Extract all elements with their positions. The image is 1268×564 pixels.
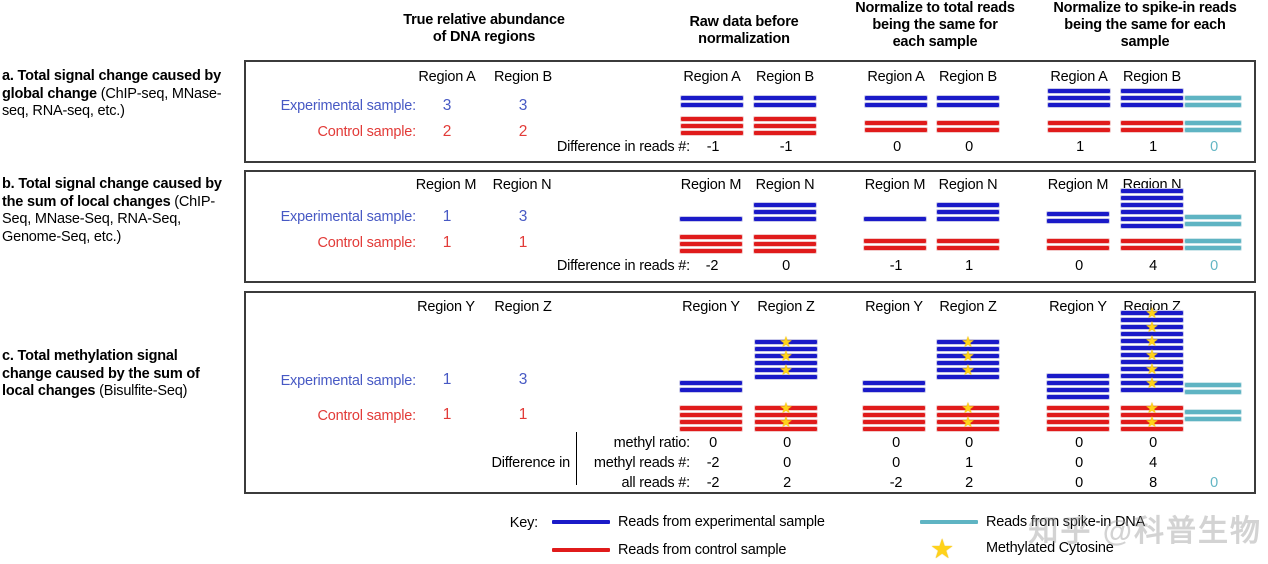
panel-b-region-label-0-col0: Region M <box>416 177 476 193</box>
panel-c-spikein-ctrl-stack-1: ★ ★ <box>1121 406 1183 434</box>
watermark: 知乎 @科普生物 <box>1028 506 1262 550</box>
panel-b-raw-ctrl-stack-1 <box>754 235 816 253</box>
column-header-raw-data: Raw data before normalization <box>648 14 840 48</box>
panel-b-spikein-dna-top <box>1185 215 1241 226</box>
panel-c-true-ctrl-0: 1 <box>443 407 451 423</box>
panel-c-normtotal-methyl-reads-1: 1 <box>965 455 973 471</box>
panel-b-control-label: Control sample: <box>317 235 416 251</box>
panel-c-description-normal: (Bisulfite-Seq) <box>95 383 187 399</box>
panel-a-experimental-label: Experimental sample: <box>281 98 416 114</box>
panel-b-description: b. Total signal change caused by the sum… <box>2 176 230 246</box>
panel-a-region-label-1-col0: Region B <box>494 69 552 85</box>
panel-b-normtotal-ctrl-stack-0 <box>864 239 926 250</box>
panel-b-normtotal-diff-1: 1 <box>965 258 973 274</box>
panel-c-methyl-ratio-label: methyl ratio: <box>614 435 690 451</box>
panel-a-region-label-1-col1: Region B <box>756 69 814 85</box>
panel-c-spikein-dna-top <box>1185 383 1241 394</box>
key-label-control: Reads from control sample <box>618 542 786 558</box>
panel-a-true-exp-0: 3 <box>443 98 451 114</box>
panel-a-raw-diff-0: -1 <box>707 139 720 155</box>
panel-a-raw-ctrl-stack-0 <box>681 117 743 135</box>
panel-c-spikein-all-reads-0: 0 <box>1075 475 1083 491</box>
panel-c-normtotal-ctrl-stack-1: ★ ★ <box>937 406 999 434</box>
panel-c-all-reads-label: all reads #: <box>621 475 690 491</box>
panel-c-raw-ctrl-stack-1: ★ ★ <box>755 406 817 434</box>
panel-c-control-label: Control sample: <box>317 408 416 424</box>
panel-a-raw-ctrl-stack-1 <box>754 117 816 135</box>
figure-normalization-strategies: True relative abundance of DNA regions R… <box>0 0 1268 560</box>
panel-a-spikein-exp-stack-0 <box>1048 89 1110 107</box>
panel-b-normtotal-ctrl-stack-1 <box>937 239 999 250</box>
column-header-true-abundance: True relative abundance of DNA regions <box>358 12 610 46</box>
panel-c-spikein-methyl-reads-0: 0 <box>1075 455 1083 471</box>
panel-b-spikein-diff-0: 0 <box>1075 258 1083 274</box>
panel-a-spikein-dna-bottom <box>1185 121 1241 132</box>
panel-a-normtotal-ctrl-stack-1 <box>937 121 999 132</box>
panel-c-normtotal-ctrl-stack-0 <box>863 406 925 431</box>
panel-b-raw-diff-1: 0 <box>782 258 790 274</box>
panel-c-region-label-1-col0: Region Z <box>494 299 551 315</box>
panel-b-raw-diff-0: -2 <box>706 258 719 274</box>
panel-c-methyl-reads-label: methyl reads #: <box>594 455 690 471</box>
panel-b-true-ctrl-0: 1 <box>443 235 451 251</box>
panel-c-spikein-ctrl-stack-0 <box>1047 406 1109 431</box>
panel-c-normtotal-exp-stack-1: ★ ★ ★ <box>937 340 999 382</box>
panel-b-spikein-diff-1: 4 <box>1149 258 1157 274</box>
panel-c-spikein-exp-stack-1: ★ ★ ★ ★ ★ ★ <box>1121 311 1183 395</box>
panel-b-spikein-ctrl-stack-0 <box>1047 239 1109 250</box>
panel-b-raw-exp-stack-1 <box>754 203 816 221</box>
panel-c-region-label-0-col2: Region Y <box>865 299 923 315</box>
panel-a-region-label-0-col1: Region A <box>683 69 740 85</box>
panel-a-control-label: Control sample: <box>317 124 416 140</box>
panel-c-raw-all-reads-0: -2 <box>707 475 720 491</box>
panel-a-true-ctrl-1: 2 <box>519 124 527 140</box>
panel-c-raw-exp-stack-1: ★ ★ ★ <box>755 340 817 382</box>
panel-c-raw-methyl-ratio-0: 0 <box>709 435 717 451</box>
panel-b-region-label-0-col2: Region M <box>865 177 925 193</box>
column-header-normalize-total: Normalize to total reads being the same … <box>838 0 1032 51</box>
panel-a-difference-label: Difference in reads #: <box>557 139 690 155</box>
panel-c-spikein-methyl-ratio-0: 0 <box>1075 435 1083 451</box>
panel-a-spikein-exp-stack-1 <box>1121 89 1183 107</box>
panel-b-experimental-label: Experimental sample: <box>281 209 416 225</box>
panel-c-normtotal-methyl-reads-0: 0 <box>892 455 900 471</box>
key-swatch-spikein <box>920 520 978 524</box>
panel-a-region-label-0-col0: Region A <box>418 69 475 85</box>
panel-b-spikein-exp-stack-1 <box>1121 189 1183 228</box>
panel-b-spikein-dna-bottom <box>1185 239 1241 250</box>
panel-c-spikein-all-reads-1: 8 <box>1149 475 1157 491</box>
panel-c-region-label-0-col1: Region Y <box>682 299 740 315</box>
panel-c-spikein-methyl-ratio-1: 0 <box>1149 435 1157 451</box>
panel-a-true-ctrl-0: 2 <box>443 124 451 140</box>
panel-c-description: c. Total methylation signal change cause… <box>2 348 230 401</box>
panel-a-raw-exp-stack-0 <box>681 96 743 107</box>
panel-c-true-exp-1: 3 <box>519 372 527 388</box>
panel-c-region-label-1-col2: Region Z <box>939 299 996 315</box>
panel-a-normtotal-exp-stack-1 <box>937 96 999 107</box>
panel-c-true-exp-0: 1 <box>443 372 451 388</box>
panel-c-raw-methyl-reads-1: 0 <box>783 455 791 471</box>
panel-b-spikein-exp-stack-0 <box>1047 212 1109 223</box>
panel-c-normtotal-methyl-ratio-0: 0 <box>892 435 900 451</box>
panel-a-region-label-1-col3: Region B <box>1123 69 1181 85</box>
panel-c-region-label-0-col3: Region Y <box>1049 299 1107 315</box>
panel-b-difference-label: Difference in reads #: <box>557 258 690 274</box>
panel-a-spikein-ctrl-stack-0 <box>1048 121 1110 132</box>
panel-a-spikein-diff-1: 1 <box>1149 139 1157 155</box>
panel-c-spikein-dna-bottom <box>1185 410 1241 421</box>
panel-c-normtotal-methyl-ratio-1: 0 <box>965 435 973 451</box>
panel-a-normtotal-ctrl-stack-0 <box>865 121 927 132</box>
panel-a-raw-diff-1: -1 <box>780 139 793 155</box>
panel-b-raw-ctrl-stack-0 <box>680 235 742 253</box>
key-label-experimental: Reads from experimental sample <box>618 514 825 530</box>
panel-c-normtotal-all-reads-0: -2 <box>890 475 903 491</box>
panel-c-normtotal-exp-stack-0 <box>863 381 925 392</box>
panel-c-difference-divider <box>576 432 577 485</box>
panel-c-raw-methyl-reads-0: -2 <box>707 455 720 471</box>
panel-b-region-label-1-col1: Region N <box>756 177 815 193</box>
panel-c-difference-in-label: Difference in <box>491 455 570 471</box>
key-swatch-methylated-cytosine-icon: ★ <box>930 536 954 563</box>
column-header-normalize-spikein: Normalize to spike-in reads being the sa… <box>1028 0 1262 51</box>
panel-c-raw-methyl-ratio-1: 0 <box>783 435 791 451</box>
key-swatch-experimental <box>552 520 610 524</box>
panel-b-true-exp-0: 1 <box>443 209 451 225</box>
panel-a-raw-exp-stack-1 <box>754 96 816 107</box>
key-title: Key: <box>510 515 538 531</box>
panel-a-normtotal-diff-1: 0 <box>965 139 973 155</box>
panel-a-spikein-ctrl-stack-1 <box>1121 121 1183 132</box>
panel-a-region-label-0-col3: Region A <box>1050 69 1107 85</box>
panel-b-region-label-0-col3: Region M <box>1048 177 1108 193</box>
panel-b-region-label-0-col1: Region M <box>681 177 741 193</box>
panel-a-region-label-0-col2: Region A <box>867 69 924 85</box>
panel-c-spikein-exp-stack-0 <box>1047 374 1109 399</box>
panel-b-normtotal-exp-stack-1 <box>937 203 999 221</box>
panel-a-normtotal-exp-stack-0 <box>865 96 927 107</box>
panel-b-normtotal-exp-stack-0 <box>864 217 926 221</box>
panel-c-raw-all-reads-1: 2 <box>783 475 791 491</box>
panel-a-region-label-1-col2: Region B <box>939 69 997 85</box>
panel-c-true-ctrl-1: 1 <box>519 407 527 423</box>
panel-c-spikein-diff-dna: 0 <box>1210 475 1218 491</box>
panel-c-raw-ctrl-stack-0 <box>680 406 742 431</box>
panel-a-spikein-diff-0: 1 <box>1076 139 1084 155</box>
panel-c-experimental-label: Experimental sample: <box>281 373 416 389</box>
panel-a-spikein-dna-top <box>1185 96 1241 107</box>
panel-a-true-exp-1: 3 <box>519 98 527 114</box>
panel-a-normtotal-diff-0: 0 <box>893 139 901 155</box>
panel-c-region-label-0-col0: Region Y <box>417 299 475 315</box>
panel-c-spikein-methyl-reads-1: 4 <box>1149 455 1157 471</box>
key-swatch-control <box>552 548 610 552</box>
panel-b-spikein-ctrl-stack-1 <box>1121 239 1183 250</box>
panel-c-normtotal-all-reads-1: 2 <box>965 475 973 491</box>
panel-b-raw-exp-stack-0 <box>680 217 742 221</box>
panel-b-spikein-diff-dna: 0 <box>1210 258 1218 274</box>
panel-a-spikein-diff-dna: 0 <box>1210 139 1218 155</box>
panel-b-normtotal-diff-0: -1 <box>890 258 903 274</box>
panel-b-true-ctrl-1: 1 <box>519 235 527 251</box>
panel-b-region-label-1-col0: Region N <box>493 177 552 193</box>
panel-c-region-label-1-col1: Region Z <box>757 299 814 315</box>
panel-b-true-exp-1: 3 <box>519 209 527 225</box>
panel-b-region-label-1-col2: Region N <box>939 177 998 193</box>
panel-a-description: a. Total signal change caused by global … <box>2 68 230 121</box>
panel-c-raw-exp-stack-0 <box>680 381 742 392</box>
